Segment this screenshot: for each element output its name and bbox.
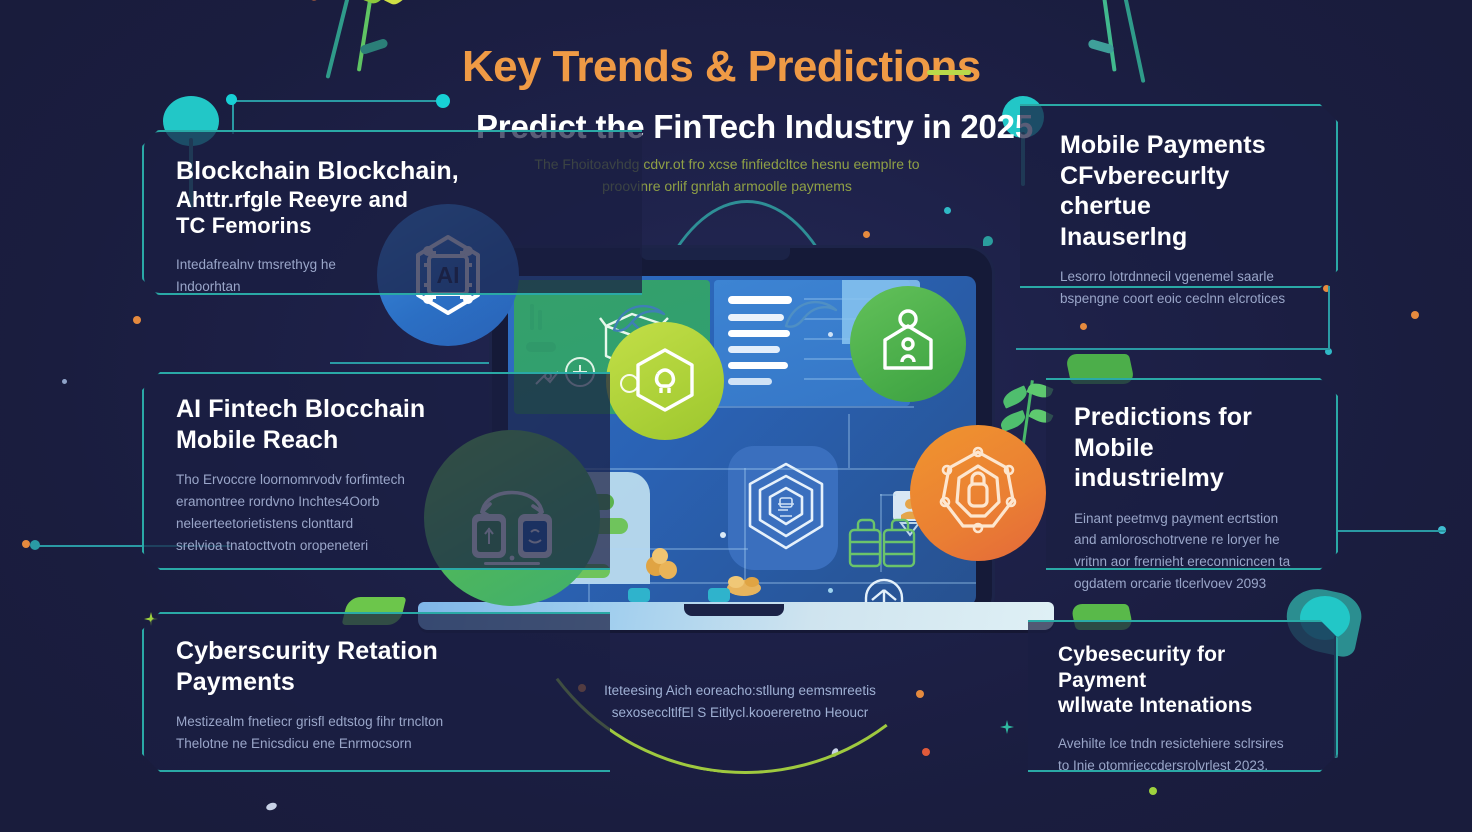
circuit-wire [1016, 348, 1328, 350]
decor-dot [22, 540, 30, 548]
coins-icon [638, 544, 690, 584]
panel-mobile-payments[interactable]: Mobile Payments CFvberecurlty chertue In… [1020, 104, 1338, 288]
decor-dot [133, 316, 141, 324]
panel-title-line1: Cyberscurity Retation [176, 636, 580, 667]
panel-title-line1: Blockchain Blockchain, [176, 156, 612, 187]
circuit-node [226, 94, 237, 105]
panel-body-line3: vritnn aor frernieht ereconnicncen ta [1074, 554, 1290, 569]
decor-stem-cluster-left [300, 0, 480, 80]
laptop-trackpad [684, 604, 784, 616]
arch-icon [852, 566, 928, 606]
screen-divider [714, 406, 914, 408]
screen-dot [828, 588, 833, 593]
screen-connector [880, 494, 896, 496]
panel-title-line2: Ahttr.rfgle Reeyre and [176, 187, 612, 214]
circuit-node [30, 540, 40, 550]
panel-body-line4: srelvioa tnatocttvotn oropeneteri [176, 538, 368, 553]
decor-dot [922, 748, 930, 756]
panel-body: Tho Ervoccre loornomrvodv forfimtech era… [176, 469, 466, 556]
panel-body-line1: Avehilte lce tndn resictehiere sclrsires [1058, 736, 1284, 751]
panel-body-line1: Lesorro lotrdnnecil vgenemel saarle [1060, 269, 1274, 284]
panel-title: AI Fintech Blocchain Mobile Reach [176, 394, 580, 455]
panel-body: Avehilte lce tndn resictehiere sclrsires… [1058, 733, 1316, 777]
bubble-security[interactable] [850, 286, 966, 402]
decor-dot [863, 231, 870, 238]
decor-dot [62, 379, 67, 384]
circuit-wire [1336, 530, 1446, 532]
page-kicker: Key Trends & Predictions [462, 42, 981, 92]
blockchain-hex-icon [740, 458, 832, 558]
decor-stem-cluster-right [1040, 0, 1220, 84]
panel-title-line2: Payments [176, 667, 580, 698]
decor-dot [1411, 311, 1419, 319]
panel-body: Lesorro lotrdnnecil vgenemel saarle bspe… [1060, 266, 1310, 310]
infographic-canvas: AI [0, 0, 1472, 832]
panel-title-line2: wllwate Intenations [1058, 693, 1316, 719]
panel-body-line3: neleerteetorietistens clonttard [176, 516, 353, 531]
panel-title-line1: Predictions for Mobile [1074, 402, 1312, 463]
panel-title: Mobile Payments CFvberecurlty chertue In… [1060, 130, 1310, 252]
panel-title-line2: Mobile Reach [176, 425, 580, 456]
panel-title: Blockchain Blockchain, Ahttr.rfgle Reeyr… [176, 156, 612, 240]
bubble-blockchain-ring [620, 374, 639, 393]
panel-body-line1: Intedafrealnv tmsrethyg he [176, 257, 336, 272]
screen-divider [744, 468, 746, 582]
screen-chip [708, 588, 730, 602]
panel-title-line3: Inauserlng [1060, 222, 1310, 253]
panel-title-line1: AI Fintech Blocchain [176, 394, 580, 425]
panel-body-line2: Indoorhtan [176, 279, 241, 294]
panel-body-line1: Tho Ervoccre loornomrvodv forfimtech [176, 472, 405, 487]
screen-divider [848, 414, 850, 468]
circuit-wire [330, 362, 498, 364]
centre-note: Iteteesing Aich eoreacho:stllung eemsmre… [530, 680, 950, 723]
blockchain-hex-icon [628, 344, 702, 418]
kicker-rule [927, 70, 971, 75]
decor-sparkle [1000, 720, 1014, 734]
panel-cybersecurity-payment[interactable]: Cybesecurity for Payment wllwate Intenat… [1028, 620, 1338, 772]
panel-body-line1: Einant peetmvg payment ecrtstion [1074, 511, 1278, 526]
panel-title: Cyberscurity Retation Payments [176, 636, 580, 697]
panel-body-line2: to Inie otomrieccdersrolvrlest 2023. [1058, 758, 1268, 773]
panel-title: Cybesecurity for Payment wllwate Intenat… [1058, 642, 1316, 719]
circuit-wire [232, 100, 446, 102]
panel-title-line1: Cybesecurity for Payment [1058, 642, 1316, 693]
bubble-encryption[interactable] [910, 425, 1046, 561]
centre-note-line1: Iteteesing Aich eoreacho:stllung eemsmre… [604, 683, 876, 698]
panel-body-line2: and amloroschotrvene re loryer he [1074, 532, 1280, 547]
panel-body: Mestizealm fnetiecr grisfl edtstog fihr … [176, 711, 496, 755]
panel-body-line4: ogdatem orcarie tlcerlvoev 2093 [1074, 576, 1266, 591]
shield-person-icon [872, 306, 944, 382]
panel-body-line1: Mestizealm fnetiecr grisfl edtstog fihr … [176, 714, 443, 729]
decor-dot [983, 236, 993, 246]
screen-chip [628, 588, 650, 602]
panel-ai-fintech[interactable]: AI Fintech Blocchain Mobile Reach Tho Er… [142, 372, 610, 570]
panel-predictions-mobile[interactable]: Predictions for Mobile industrielmy Eina… [1046, 378, 1338, 570]
laptop-camera-notch [640, 248, 790, 260]
panel-body: Einant peetmvg payment ecrtstion and aml… [1074, 508, 1312, 595]
panel-body: Intedafrealnv tmsrethyg he Indoorhtan [176, 254, 466, 298]
bubble-blockchain[interactable] [606, 322, 724, 440]
panel-blockchain[interactable]: Blockchain Blockchain, Ahttr.rfgle Reeyr… [142, 130, 642, 295]
panel-title-line2: industrielmy [1074, 463, 1312, 494]
panel-title-line1: Mobile Payments [1060, 130, 1310, 161]
circuit-node [436, 94, 450, 108]
panel-title-line3: TC Femorins [176, 213, 612, 240]
panel-title-line2: CFvberecurlty chertue [1060, 161, 1310, 222]
lock-network-icon [925, 440, 1031, 546]
panel-body-line2: Thelotne ne Enicsdicu ene Enrmocsorn [176, 736, 412, 751]
panel-body-line2: eramontree rordvno Inchtes4Oorb [176, 494, 379, 509]
centre-note-line2: sexoseccltlfEl S Eitlycl.kooereretno Heo… [612, 705, 869, 720]
decor-dot [944, 207, 951, 214]
screen-dot [720, 532, 726, 538]
panel-body-line2: bspengne coort eoic ceclnn elcrotices [1060, 291, 1285, 306]
circuit-wire [232, 100, 234, 134]
decor-dot [265, 801, 278, 811]
panel-title: Predictions for Mobile industrielmy [1074, 402, 1312, 494]
